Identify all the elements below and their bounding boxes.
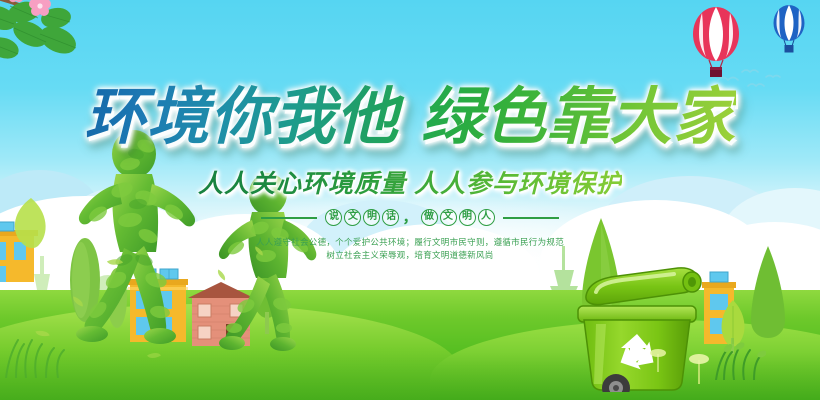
- main-title-part2: 绿色靠大家: [421, 83, 736, 152]
- blossom-branch-icon: [0, 0, 144, 82]
- street-lamp: [648, 346, 668, 372]
- tagline-characters: 说 文 明 话 ， 做 文 明 人: [325, 209, 494, 226]
- grass-tuft-right: [706, 336, 766, 380]
- tagline-char: 做: [421, 209, 438, 226]
- tagline-char: 说: [325, 209, 342, 226]
- tagline-char: 明: [363, 209, 380, 226]
- sub-title: 人人关心环境质量 人人参与环境保护: [0, 168, 820, 200]
- eco-poster: 环境你我他绿色靠大家 人人关心环境质量 人人参与环境保护 说 文 明 话 ， 做…: [0, 0, 820, 400]
- tagline-char: 话: [382, 209, 399, 226]
- tagline-char: 文: [344, 209, 361, 226]
- blue-striped-hot-air-balloon-icon: [770, 4, 808, 60]
- body-text-line1: 人人遵守社会公德，个个爱护公共环境；履行文明市民守则，遵循市民行为规范: [0, 236, 820, 249]
- tagline-rule-left: [261, 217, 317, 219]
- tagline-comma: ，: [401, 211, 418, 225]
- tagline-char: 文: [440, 209, 457, 226]
- body-text: 人人遵守社会公德，个个爱护公共环境；履行文明市民守则，遵循市民行为规范 树立社会…: [0, 236, 820, 262]
- main-title: 环境你我他绿色靠大家: [0, 82, 820, 154]
- tagline-char: 明: [459, 209, 476, 226]
- tagline-rule-right: [503, 217, 559, 219]
- main-title-line: 环境你我他绿色靠大家: [84, 82, 736, 154]
- tagline: 说 文 明 话 ， 做 文 明 人: [0, 209, 820, 226]
- street-lamp: [686, 350, 712, 384]
- tagline-char: 人: [478, 209, 495, 226]
- sub-title-text: 人人关心环境质量 人人参与环境保护: [198, 168, 622, 200]
- bin-lid: [586, 268, 701, 305]
- main-title-part1: 环境你我他: [84, 83, 399, 152]
- body-text-line2: 树立社会主义荣辱观，培育文明道德新风尚: [0, 249, 820, 262]
